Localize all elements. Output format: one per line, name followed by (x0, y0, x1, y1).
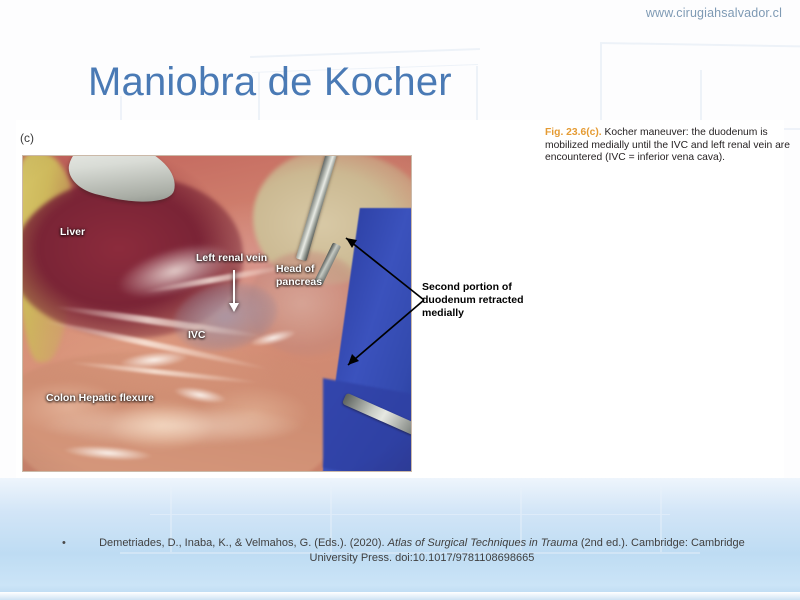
citation-bullet: • (62, 536, 66, 551)
slide: www.cirugiahsalvador.cl Maniobra de Koch… (0, 0, 800, 600)
figure-number: Fig. 23.6(c). (545, 127, 602, 138)
citation-text: Demetriades, D., Inaba, K., & Velmahos, … (82, 536, 762, 566)
photo-label-liver: Liver (60, 226, 85, 238)
citation: • Demetriades, D., Inaba, K., & Velmahos… (62, 536, 762, 566)
page-title: Maniobra de Kocher (88, 58, 452, 106)
photo-label-ivc: IVC (188, 329, 206, 341)
photo-label-colon-hepatic-flexure: Colon Hepatic flexure (46, 392, 166, 405)
figure-caption: Fig. 23.6(c). Kocher maneuver: the duode… (545, 127, 793, 165)
duodenum-arrows-icon (336, 225, 432, 375)
citation-work-title: Atlas of Surgical Techniques in Trauma (388, 537, 578, 549)
annotation-duodenum: Second portion of duodenum retracted med… (422, 281, 542, 320)
renal-vein-arrow-icon (233, 270, 235, 304)
panel-letter: (c) (20, 131, 34, 145)
citation-authors: Demetriades, D., Inaba, K., & Velmahos, … (99, 537, 388, 549)
photo-label-left-renal-vein: Left renal vein (196, 252, 267, 264)
bottom-edge (0, 592, 800, 600)
site-url: www.cirugiahsalvador.cl (646, 6, 782, 20)
